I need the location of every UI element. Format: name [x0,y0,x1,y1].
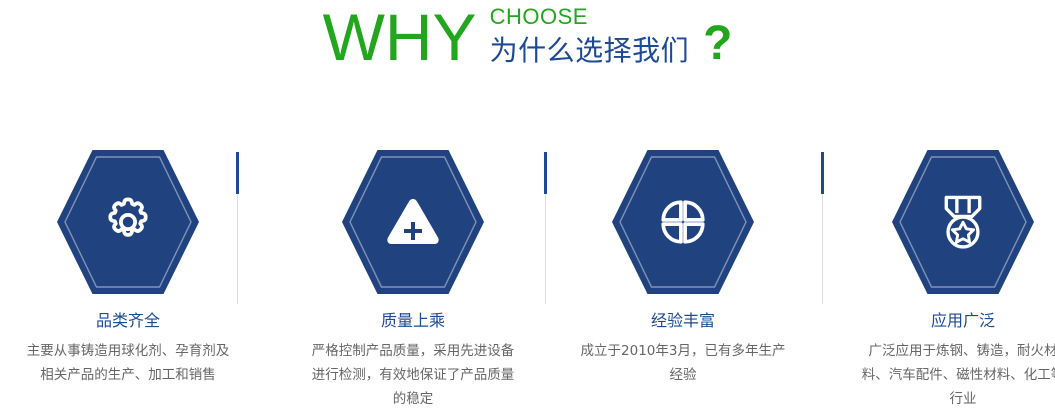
feature-card[interactable]: 质量上乘 严格控制产品质量，采用先进设备进行检测，有效地保证了产品质量的稳定 [281,148,545,411]
feature-cards-row: 品类齐全 主要从事铸造用球化剂、孕育剂及相关产品的生产、加工和销售 [0,148,1055,416]
feature-card[interactable]: 品类齐全 主要从事铸造用球化剂、孕育剂及相关产品的生产、加工和销售 [0,148,260,387]
hexagon-badge [612,148,754,296]
question-mark-icon: ? [703,2,732,70]
why-choose-us-section: WHY CHOOSE 为什么选择我们 ? [0,0,1055,416]
card-title: 经验丰富 [651,310,715,332]
card-description: 成立于2010年3月，已有多年生产经验 [580,339,786,387]
card-title: 品类齐全 [96,310,160,332]
triangle-plus-icon [342,148,484,296]
medal-icon [892,148,1034,296]
card-description: 主要从事铸造用球化剂、孕育剂及相关产品的生产、加工和销售 [25,339,231,387]
gear-icon [57,148,199,296]
heading-choose: CHOOSE [490,4,690,30]
hexagon-badge [342,148,484,296]
feature-card[interactable]: 应用广泛 广泛应用于炼钢、铸造，耐火材料、汽车配件、磁性材料、化工等行业 [831,148,1055,411]
card-description: 严格控制产品质量，采用先进设备进行检测，有效地保证了产品质量的稳定 [310,339,516,411]
four-petal-clover-icon [612,148,754,296]
card-title: 质量上乘 [381,310,445,332]
hexagon-badge [57,148,199,296]
heading-why: WHY [323,2,477,72]
section-header: WHY CHOOSE 为什么选择我们 ? [0,0,1055,96]
hexagon-badge [892,148,1034,296]
card-title: 应用广泛 [931,310,995,332]
header-inner: WHY CHOOSE 为什么选择我们 ? [323,0,733,72]
card-description: 广泛应用于炼钢、铸造，耐火材料、汽车配件、磁性材料、化工等行业 [856,339,1055,411]
heading-chinese-title: 为什么选择我们 [490,34,690,68]
heading-middle-stack: CHOOSE 为什么选择我们 [490,2,690,68]
feature-card[interactable]: 经验丰富 成立于2010年3月，已有多年生产经验 [551,148,815,387]
